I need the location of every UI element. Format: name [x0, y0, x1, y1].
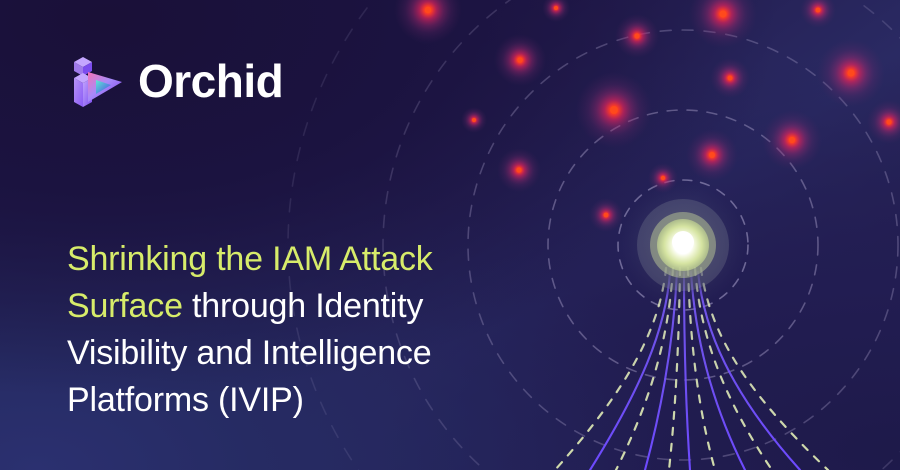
- dashed-stream-4: [688, 268, 715, 470]
- threat-node: [817, 39, 885, 107]
- stream-line-4: [691, 272, 745, 470]
- threat-node: [648, 163, 678, 193]
- threat-nodes: [394, 0, 900, 232]
- solid-streams: [590, 272, 800, 470]
- dashed-stream-5: [695, 268, 772, 470]
- promo-banner: Orchid Shrinking the IAM Attack Surface …: [0, 0, 900, 470]
- dashed-stream-6: [701, 268, 828, 470]
- page-title: Shrinking the IAM Attack Surface through…: [67, 236, 537, 424]
- stream-line-1: [590, 272, 670, 470]
- threat-node: [394, 0, 462, 44]
- hub-core-white: [672, 231, 694, 253]
- threat-node: [686, 129, 738, 181]
- dashed-stream-2: [616, 268, 673, 470]
- threat-node: [542, 0, 570, 22]
- stream-line-3: [684, 272, 690, 470]
- dashed-streams: [555, 268, 828, 470]
- headline-plain-line-3: Visibility and Intelligence: [67, 334, 431, 372]
- threat-node: [589, 198, 623, 232]
- brand-logo[interactable]: Orchid: [66, 50, 283, 112]
- headline-plain-line-2: through Identity: [183, 287, 423, 325]
- threat-node: [762, 110, 822, 170]
- orbit-arc-2: [548, 110, 818, 380]
- threat-node: [615, 14, 659, 58]
- identity-hub-node: [621, 183, 745, 307]
- dashed-stream-3: [669, 268, 680, 470]
- threat-node: [800, 0, 836, 28]
- threat-node: [710, 58, 750, 98]
- hub-core-disc: [657, 219, 709, 271]
- threat-node: [576, 72, 652, 148]
- stream-line-5: [698, 272, 800, 470]
- orchid-logo-icon: [66, 50, 124, 112]
- data-streams: [555, 268, 828, 470]
- threat-node: [461, 107, 487, 133]
- headline-accent-line-1: Shrinking the IAM Attack: [67, 240, 433, 278]
- threat-node: [867, 100, 900, 144]
- orbit-arc-1: [618, 180, 748, 310]
- threat-node: [689, 0, 757, 48]
- threat-node: [497, 148, 541, 192]
- headline-accent-line-2: Surface: [67, 287, 183, 325]
- threat-node: [494, 34, 546, 86]
- brand-name: Orchid: [138, 58, 283, 104]
- stream-line-2: [645, 272, 677, 470]
- headline-plain-line-4: Platforms (IVIP): [67, 381, 304, 419]
- hub-halo-mid: [637, 199, 729, 291]
- hub-halo-outer: [621, 183, 745, 307]
- dashed-stream-1: [555, 268, 666, 470]
- hub-halo-inner: [650, 212, 716, 278]
